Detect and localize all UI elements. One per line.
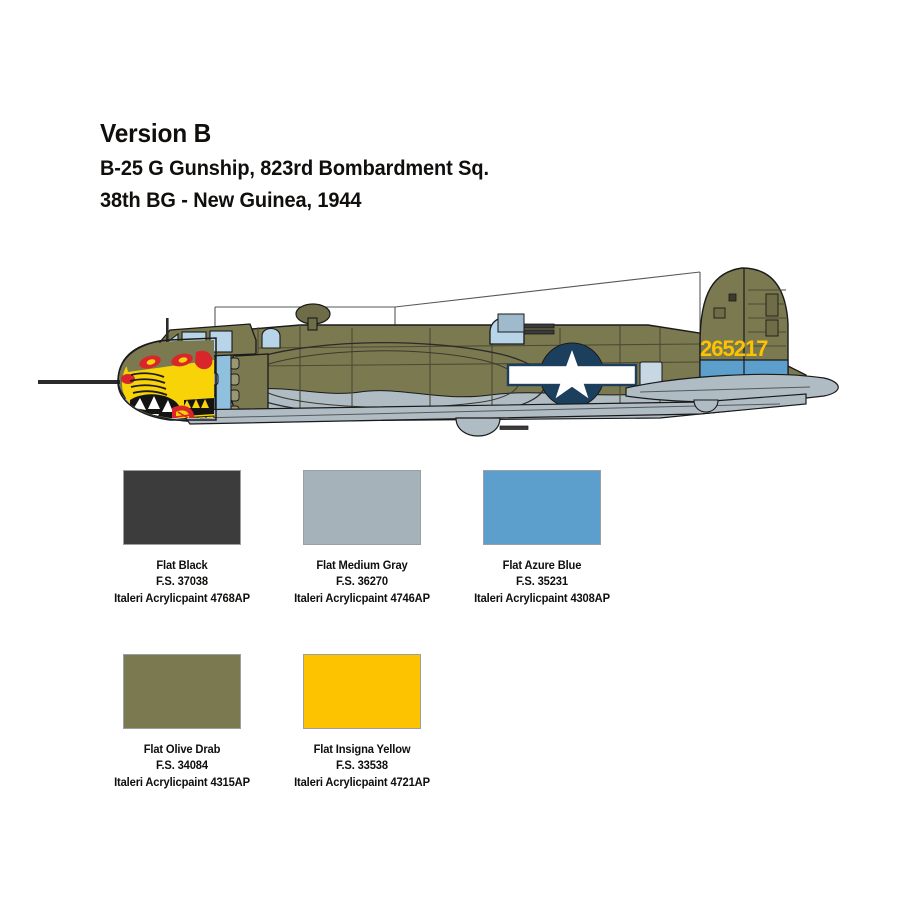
page-title: Version B (100, 118, 683, 150)
paint-color-legend: Flat Black F.S. 37038 Italeri Acrylicpai… (92, 470, 812, 838)
color-chip (303, 470, 421, 545)
unit-location-line: 38th BG - New Guinea, 1944 (100, 185, 689, 217)
version-title-block: Version B B-25 G Gunship, 823rd Bombardm… (100, 118, 720, 217)
paint-fs-code: F.S. 36270 (294, 574, 430, 590)
color-chip (123, 654, 241, 729)
paint-row-1: Flat Black F.S. 37038 Italeri Acrylicpai… (92, 470, 812, 607)
paint-caption: Flat Medium Gray F.S. 36270 Italeri Acry… (292, 558, 432, 607)
paint-fs-code: F.S. 34084 (114, 758, 250, 774)
paint-swatch-flat-black: Flat Black F.S. 37038 Italeri Acrylicpai… (92, 470, 272, 607)
paint-name: Flat Medium Gray (294, 558, 430, 574)
paint-swatch-flat-insigna-yellow: Flat Insigna Yellow F.S. 33538 Italeri A… (272, 654, 452, 791)
paint-fs-code: F.S. 35231 (474, 574, 610, 590)
aircraft-profile-illustration: 265217 (0, 232, 900, 472)
paint-fs-code: F.S. 33538 (294, 758, 430, 774)
paint-caption: Flat Olive Drab F.S. 34084 Italeri Acryl… (112, 742, 252, 791)
paint-product-code: Italeri Acrylicpaint 4721AP (294, 775, 430, 791)
paint-product-code: Italeri Acrylicpaint 4315AP (114, 775, 250, 791)
paint-product-code: Italeri Acrylicpaint 4746AP (294, 591, 430, 607)
color-chip (483, 470, 601, 545)
paint-name: Flat Insigna Yellow (294, 742, 430, 758)
color-chip (303, 654, 421, 729)
paint-product-code: Italeri Acrylicpaint 4308AP (474, 591, 610, 607)
color-chip (123, 470, 241, 545)
paint-fs-code: F.S. 37038 (114, 574, 250, 590)
aircraft-designation-line: B-25 G Gunship, 823rd Bombardment Sq. (100, 153, 689, 185)
paint-product-code: Italeri Acrylicpaint 4768AP (114, 591, 250, 607)
paint-swatch-flat-medium-gray: Flat Medium Gray F.S. 36270 Italeri Acry… (272, 470, 452, 607)
paint-name: Flat Olive Drab (114, 742, 250, 758)
tail-serial-number: 265217 (700, 336, 768, 361)
nose-cannon-barrel (38, 380, 120, 384)
paint-row-2: Flat Olive Drab F.S. 34084 Italeri Acryl… (92, 654, 812, 791)
ventral-turret (456, 418, 528, 436)
paint-swatch-flat-azure-blue: Flat Azure Blue F.S. 35231 Italeri Acryl… (452, 470, 632, 607)
paint-name: Flat Black (114, 558, 250, 574)
paint-caption: Flat Black F.S. 37038 Italeri Acrylicpai… (112, 558, 252, 607)
paint-swatch-flat-olive-drab: Flat Olive Drab F.S. 34084 Italeri Acryl… (92, 654, 272, 791)
paint-name: Flat Azure Blue (474, 558, 610, 574)
paint-caption: Flat Azure Blue F.S. 35231 Italeri Acryl… (472, 558, 612, 607)
paint-caption: Flat Insigna Yellow F.S. 33538 Italeri A… (292, 742, 432, 791)
